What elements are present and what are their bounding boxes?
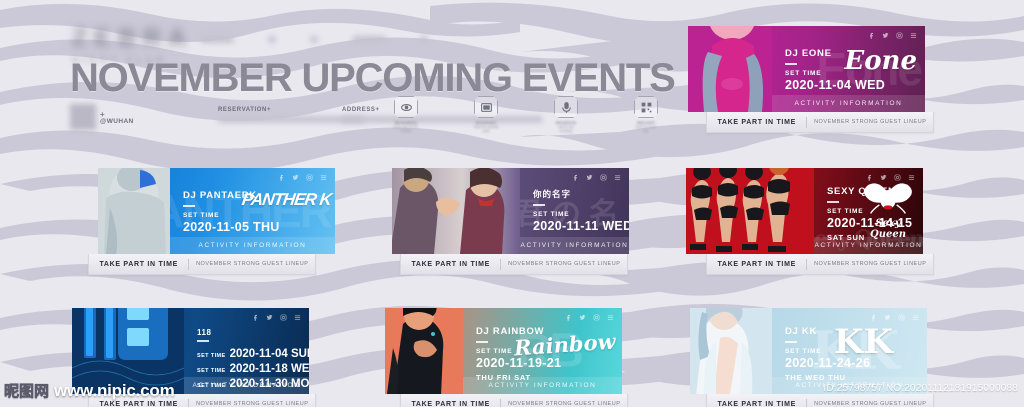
instagram-icon [600, 174, 607, 181]
artist-photo-eone [688, 26, 772, 112]
badge-business[interactable]: BUSINESS every day 20:00-4:00am [393, 96, 419, 133]
brand-logo-text: ZEBRA [72, 24, 193, 53]
event-date-pantaerk: 2020-11-05 THU [183, 220, 280, 234]
footer-bar-your-name[interactable]: TAKE PART IN TIME NOVEMBER STRONG GUEST … [400, 254, 628, 275]
footer-bar-eone[interactable]: TAKE PART IN TIME NOVEMBER STRONG GUEST … [706, 112, 934, 133]
artist-photo-pantaerk-art [98, 168, 170, 254]
badge-business-sub: every day 20:00-4:00am [393, 125, 419, 133]
twitter-icon [579, 314, 586, 321]
artist-photo-pantaerk [98, 168, 170, 254]
sexy-queen-emblem: Sexy Queen [859, 180, 917, 240]
artist-photo-eone-art [688, 26, 772, 112]
divider [785, 63, 797, 65]
divider [785, 341, 797, 343]
facebook-icon [565, 314, 572, 321]
twitter-icon [884, 314, 891, 321]
header-nav-placeholder [200, 36, 428, 43]
twitter-icon [586, 174, 593, 181]
butterfly-icon [862, 180, 914, 214]
event-banner-pantaerk: PANTHER DJ PANTAERK SET TIME 2020-11-05 … [98, 168, 335, 254]
divider [183, 205, 195, 207]
header-badges: BUSINESS every day 20:00-4:00am BOOKING … [393, 96, 659, 133]
settime-date-2: 2020-11-18 WED [230, 363, 309, 375]
eye-icon [394, 96, 418, 118]
footer-take-part-rainbow: TAKE PART IN TIME [401, 401, 500, 407]
facebook-icon [252, 314, 259, 321]
footer-take-part-sexy-queen: TAKE PART IN TIME [707, 261, 806, 268]
divider [476, 341, 488, 343]
qr-city-label: @WUHAN [100, 118, 134, 125]
event-card-pantaerk[interactable]: PANTHER DJ PANTAERK SET TIME 2020-11-05 … [98, 168, 335, 254]
footer-lineup-eone: NOVEMBER STRONG GUEST LINEUP [807, 119, 933, 125]
footer-lineup-kk: NOVEMBER STRONG GUEST LINEUP [807, 401, 933, 407]
artist-photo-kk [690, 308, 772, 394]
artist-photo-rainbow-art [385, 308, 463, 394]
event-settime-label-your-name: SET TIME [533, 211, 629, 218]
qrcode-icon [634, 96, 658, 118]
divider [827, 201, 839, 203]
nipic-cn-logo: 昵图网 [4, 380, 49, 401]
event-card-sexy-queen[interactable]: Sexy Queen SEXY QUEEN SET TIME 2020-11-1… [686, 168, 923, 254]
activity-information-bar-118[interactable]: ACTIVITY INFORMATION [184, 377, 309, 394]
badge-booking[interactable]: BOOKING scan the wechat code [473, 96, 499, 133]
nipic-url: www.nipic.com [54, 381, 175, 401]
footer-lineup-rainbow: NOVEMBER STRONG GUEST LINEUP [501, 401, 627, 407]
event-line-118-2: SET TIME 2020-11-18 WED 主场日 [197, 363, 309, 375]
nipic-cn-text: 昵图网 [4, 380, 49, 401]
page-header: ZEBRA NIGHT CLUB NOVEMBER UPCOMING EVENT… [0, 0, 700, 145]
instagram-icon [306, 174, 313, 181]
menu-icon [607, 314, 614, 321]
event-info-118: 118 SET TIME 2020-11-04 SUN 开幕式 SET TIME… [184, 308, 309, 394]
facebook-icon [868, 32, 875, 39]
instagram-icon [896, 32, 903, 39]
footer-bar-kk[interactable]: TAKE PART IN TIME NOVEMBER STRONG GUEST … [706, 394, 934, 407]
menu-icon [294, 314, 301, 321]
event-dj-name-your-name: 你的名字 [533, 188, 629, 200]
social-links-your-name[interactable] [572, 174, 621, 181]
event-date-your-name: 2020-11-11 WED [533, 219, 629, 233]
menu-icon [614, 174, 621, 181]
artist-photo-sexy-queen-art [686, 168, 814, 254]
event-logo-art-pantaerk: PANTHER K [241, 190, 333, 210]
facebook-icon [572, 174, 579, 181]
event-settime-label-pantaerk: SET TIME [183, 212, 280, 219]
event-info-sexy-queen: Sexy Queen SEXY QUEEN SET TIME 2020-11-1… [814, 168, 923, 254]
artist-photo-your-name [392, 168, 520, 254]
activity-information-bar-your-name[interactable]: ACTIVITY INFORMATION [520, 237, 629, 254]
instagram-icon [280, 314, 287, 321]
social-links-eone[interactable] [868, 32, 917, 39]
footer-take-part-118: TAKE PART IN TIME [89, 401, 188, 407]
footer-lineup-118: NOVEMBER STRONG GUEST LINEUP [189, 401, 315, 407]
footer-lineup-pantaerk: NOVEMBER STRONG GUEST LINEUP [189, 261, 315, 267]
settime-label-2: SET TIME [197, 368, 226, 374]
social-links-kk[interactable] [870, 314, 919, 321]
page-title: NOVEMBER UPCOMING EVENTS [70, 56, 675, 101]
menu-icon [912, 314, 919, 321]
badge-reserve-sub: call for the booking [553, 125, 579, 133]
event-banner-rainbow: RB DJ RAINBOW SET TIME 2020-11-19-21 THU… [385, 308, 622, 394]
event-banner-kk: KK DJ KK SET TIME 2020-11-24-26 THE WED … [690, 308, 927, 394]
footer-take-part-your-name: TAKE PART IN TIME [401, 261, 500, 268]
badge-wechat[interactable]: WECHAT scan for more info [633, 96, 659, 133]
event-banner-your-name: 君の名 你的名字 SET TIME 2020-11-11 WED ACTIVIT… [392, 168, 629, 254]
mic-icon [554, 96, 578, 118]
footer-take-part-kk: TAKE PART IN TIME [707, 401, 806, 407]
footer-take-part-eone: TAKE PART IN TIME [707, 119, 806, 126]
qrcode-image [70, 104, 96, 130]
event-date-eone: 2020-11-04 WED [785, 78, 885, 92]
instagram-icon [898, 314, 905, 321]
artist-photo-rainbow [385, 308, 463, 394]
facebook-icon [870, 314, 877, 321]
settime-date-1: 2020-11-04 SUN [230, 348, 309, 360]
badge-booking-sub: scan the wechat code [473, 125, 499, 133]
social-links-rainbow[interactable] [565, 314, 614, 321]
event-banner-eone: Eone DJ EONE SET TIME 2020-11-04 WED Eon… [688, 26, 925, 112]
event-info-pantaerk: PANTHER DJ PANTAERK SET TIME 2020-11-05 … [170, 168, 335, 254]
badge-reserve[interactable]: RESERVE call for the booking [553, 96, 579, 133]
artist-photo-your-name-art [392, 168, 520, 254]
activity-information-bar-sexy-queen[interactable]: ACTIVITY INFORMATION [814, 237, 923, 254]
event-info-kk: KK DJ KK SET TIME 2020-11-24-26 THE WED … [772, 308, 927, 394]
social-links-118[interactable] [252, 314, 301, 321]
event-dj-name-118: 118 [197, 328, 309, 337]
event-card-your-name[interactable]: 君の名 你的名字 SET TIME 2020-11-11 WED ACTIVIT… [392, 168, 629, 254]
event-info-your-name: 君の名 你的名字 SET TIME 2020-11-11 WED ACTIVIT… [520, 168, 629, 254]
event-text-your-name: 你的名字 SET TIME 2020-11-11 WED [533, 188, 629, 233]
footer-lineup-your-name: NOVEMBER STRONG GUEST LINEUP [501, 261, 627, 267]
event-logo-art-kk: KK [834, 322, 893, 362]
settime-label-1: SET TIME [197, 353, 226, 359]
divider [533, 204, 545, 206]
badge-wechat-sub: scan for more info [633, 125, 659, 133]
event-info-eone: Eone DJ EONE SET TIME 2020-11-04 WED Eon… [772, 26, 925, 112]
menu-icon [320, 174, 327, 181]
twitter-icon [882, 32, 889, 39]
card-icon [474, 96, 498, 118]
event-card-kk[interactable]: KK DJ KK SET TIME 2020-11-24-26 THE WED … [690, 308, 927, 394]
footer-take-part-pantaerk: TAKE PART IN TIME [89, 261, 188, 268]
twitter-icon [292, 174, 299, 181]
event-logo-art-eone: Eone [844, 46, 917, 76]
social-links-pantaerk[interactable] [278, 174, 327, 181]
activity-information-bar-eone[interactable]: ACTIVITY INFORMATION [772, 95, 925, 112]
event-banner-sexy-queen: Sexy Queen SEXY QUEEN SET TIME 2020-11-1… [686, 168, 923, 254]
footer-bar-pantaerk[interactable]: TAKE PART IN TIME NOVEMBER STRONG GUEST … [88, 254, 316, 275]
event-info-rainbow: RB DJ RAINBOW SET TIME 2020-11-19-21 THU… [463, 308, 622, 394]
facebook-icon [278, 174, 285, 181]
divider [197, 340, 209, 342]
activity-information-bar-pantaerk[interactable]: ACTIVITY INFORMATION [170, 237, 335, 254]
artist-photo-kk-art [690, 308, 772, 394]
id-watermark: ID:25798757 NO:20201112181915000088 [823, 383, 1018, 394]
event-card-eone[interactable]: Eone DJ EONE SET TIME 2020-11-04 WED Eon… [688, 26, 925, 112]
event-line-118-1: SET TIME 2020-11-04 SUN 开幕式 [197, 348, 309, 360]
artist-photo-sexy-queen [686, 168, 814, 254]
footer-bar-sexy-queen[interactable]: TAKE PART IN TIME NOVEMBER STRONG GUEST … [706, 254, 934, 275]
twitter-icon [266, 314, 273, 321]
footer-lineup-sexy-queen: NOVEMBER STRONG GUEST LINEUP [807, 261, 933, 267]
nipic-watermark: 昵图网 www.nipic.com [4, 380, 175, 401]
footer-bar-rainbow[interactable]: TAKE PART IN TIME NOVEMBER STRONG GUEST … [400, 394, 628, 407]
menu-icon [910, 32, 917, 39]
event-card-rainbow[interactable]: RB DJ RAINBOW SET TIME 2020-11-19-21 THU… [385, 308, 622, 394]
activity-information-bar-rainbow[interactable]: ACTIVITY INFORMATION [463, 377, 622, 394]
instagram-icon [593, 314, 600, 321]
